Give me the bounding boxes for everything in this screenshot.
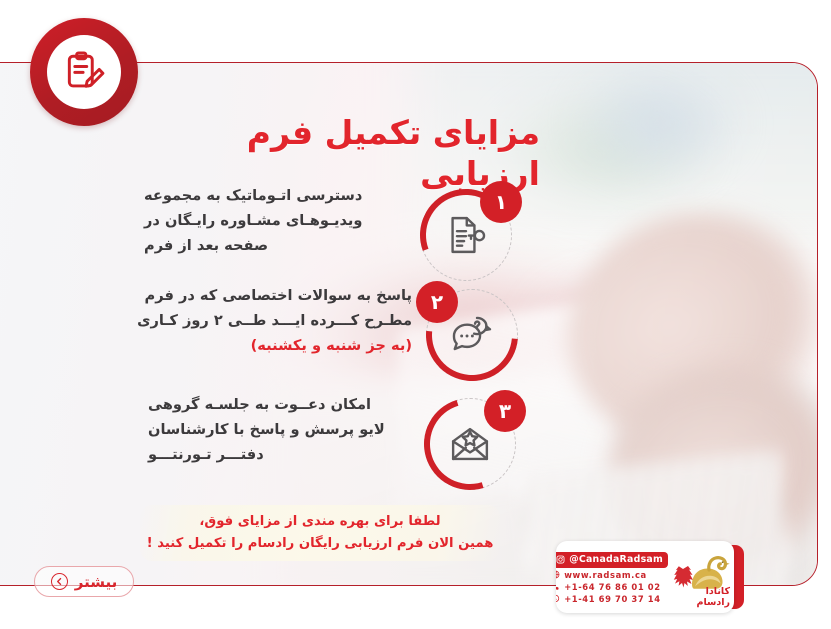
benefit-number-1: ١ bbox=[480, 181, 522, 223]
benefit-item-1: ١ دسترسی اتـوماتیک به مجموعه ویدیـوهـای … bbox=[118, 183, 518, 287]
whatsapp-text: +1-41 69 70 37 14 bbox=[564, 594, 660, 604]
more-button-label: بیشتر bbox=[75, 573, 117, 591]
benefit-medal-2: ٢ bbox=[420, 283, 524, 387]
benefit-medal-3: ٣ bbox=[418, 392, 522, 496]
swan-maple-leaf-logo: کانادا رادسام bbox=[672, 541, 734, 613]
benefit-item-3: ٣ امکان دعــوت به جلسـه گروهی لایو پرسش … bbox=[112, 392, 522, 496]
benefit-text-1: دسترسی اتـوماتیک به مجموعه ویدیـوهـای مش… bbox=[144, 183, 414, 258]
cta-banner: لطفا برای بهره مندی از مزایای فوق، همین … bbox=[140, 505, 500, 561]
clipboard-pencil-icon bbox=[47, 35, 121, 109]
cta-line-1: لطفا برای بهره مندی از مزایای فوق، bbox=[199, 511, 440, 533]
benefit-text-2-main: پاسخ به سوالات اختصاصی که در فرم مطـرح ک… bbox=[137, 287, 412, 329]
instagram-handle[interactable]: @CanadaRadsam bbox=[556, 552, 668, 568]
benefit-text-2: پاسخ به سوالات اختصاصی که در فرم مطـرح ک… bbox=[130, 283, 420, 358]
instagram-handle-text: @CanadaRadsam bbox=[569, 554, 663, 565]
website-row[interactable]: www.radsam.ca bbox=[556, 570, 668, 580]
phone-row[interactable]: +1-64 76 86 01 02 bbox=[556, 582, 668, 592]
logo-contact-card: کانادا رادسام @CanadaRadsam bbox=[556, 541, 748, 613]
benefit-note-2: (به جز شنبه و یکشنبه) bbox=[251, 337, 412, 354]
instagram-icon bbox=[556, 555, 565, 564]
brand-line-2: رادسام bbox=[697, 597, 730, 608]
chevron-left-icon bbox=[51, 573, 68, 590]
brand-line-1: کانادا bbox=[706, 586, 730, 597]
benefit-number-2: ٢ bbox=[416, 281, 458, 323]
benefit-number-3: ٣ bbox=[484, 390, 526, 432]
globe-icon bbox=[556, 570, 560, 579]
cta-line-2: همین الان فرم ارزیابی رایگان رادسام را ت… bbox=[147, 533, 494, 555]
more-button[interactable]: بیشتر bbox=[34, 566, 134, 597]
brand-name: کانادا رادسام bbox=[697, 586, 730, 608]
benefit-item-2: ٢ پاسخ به سوالات اختصاصی که در فرم مطـرح… bbox=[104, 283, 524, 387]
benefit-text-3: امکان دعــوت به جلسـه گروهی لایو پرسش و … bbox=[148, 392, 418, 467]
benefit-medal-1: ١ bbox=[414, 183, 518, 287]
phone-icon bbox=[556, 582, 560, 591]
website-text: www.radsam.ca bbox=[564, 570, 647, 580]
infographic-poster: مزایای تکمیل فرم ارزیابی ١ د bbox=[0, 0, 831, 629]
phone-text: +1-64 76 86 01 02 bbox=[564, 582, 660, 592]
whatsapp-row[interactable]: +1-41 69 70 37 14 bbox=[556, 594, 668, 604]
whatsapp-icon bbox=[556, 594, 560, 603]
clipboard-badge bbox=[30, 18, 138, 126]
